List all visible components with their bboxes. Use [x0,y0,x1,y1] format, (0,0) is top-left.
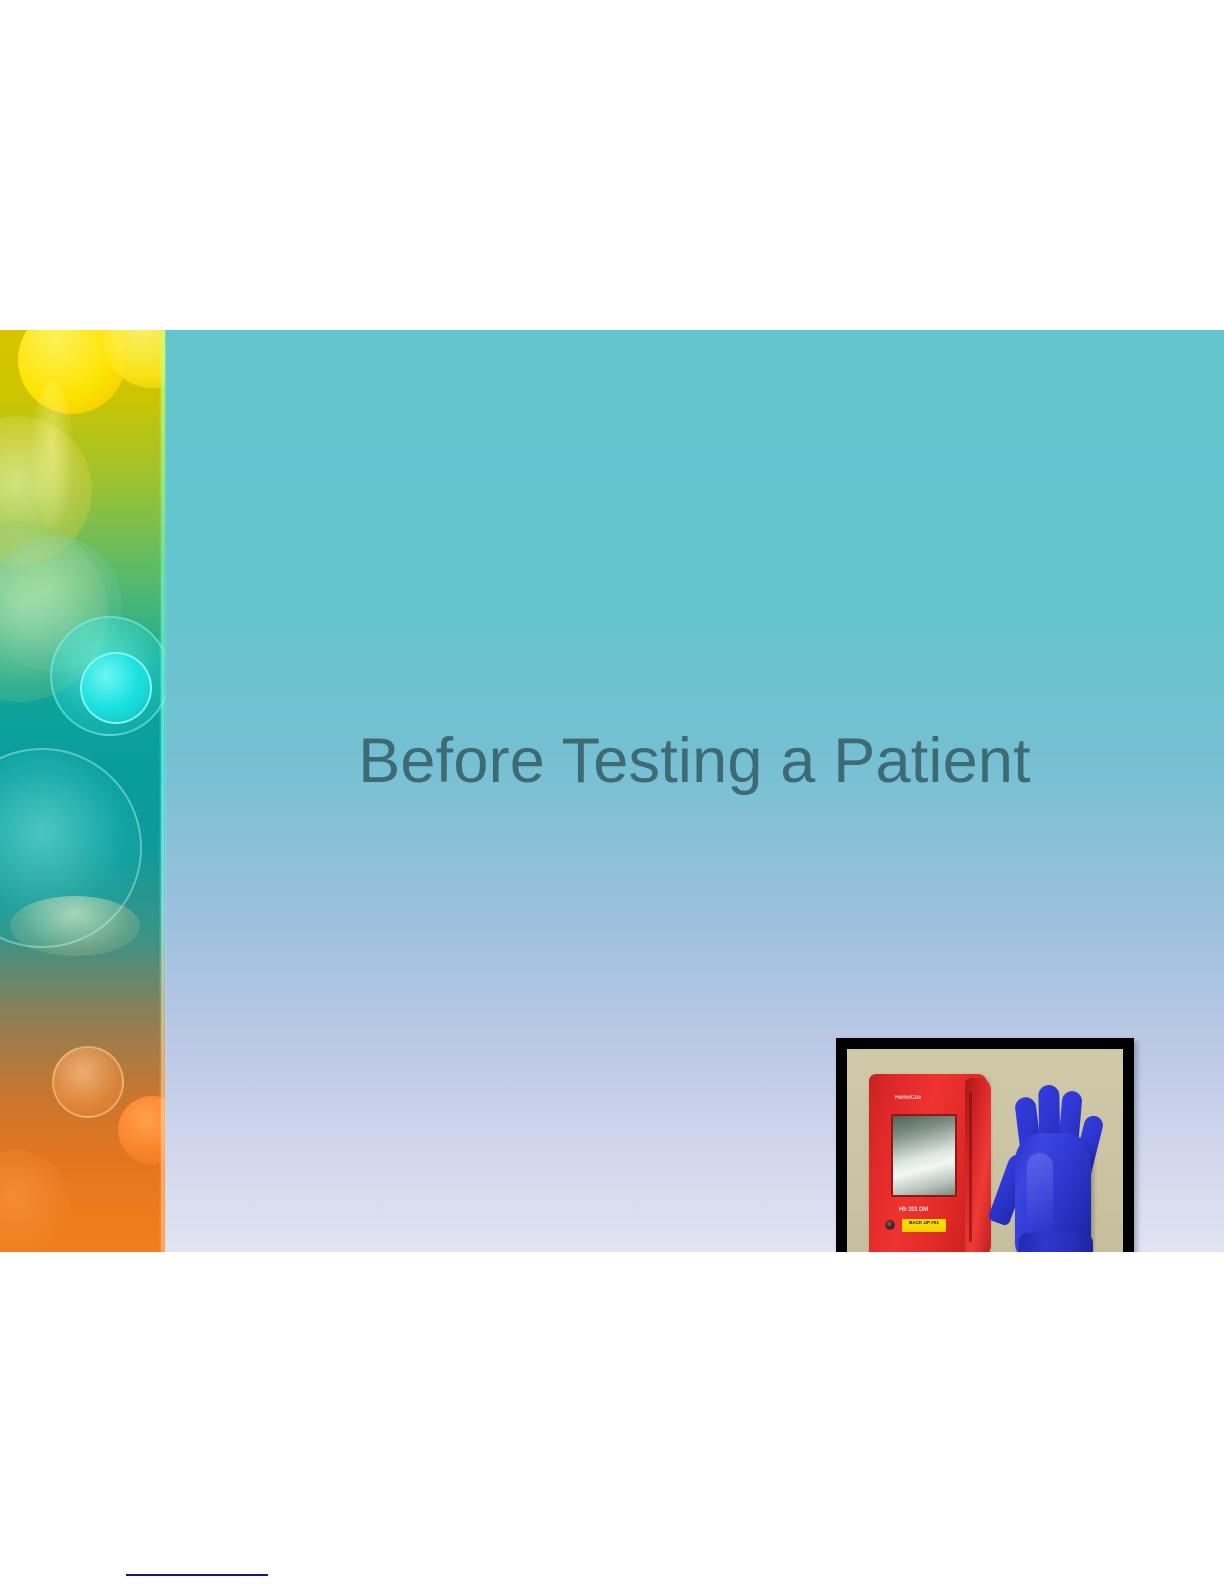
analyzer-model-label: Hb 201 DM [899,1207,928,1213]
presentation-slide: Before Testing a Patient HemoCue Hb 201 … [0,330,1224,1252]
bokeh-circle-orange-solid [118,1096,165,1164]
analyzer-display [891,1114,957,1197]
bokeh-glow-orange [0,1150,70,1252]
slide-title: Before Testing a Patient [165,730,1224,793]
footer-divider-rule [126,1574,268,1576]
bokeh-circle-cyan-bright [80,652,152,724]
bokeh-glow-warm [10,896,140,956]
glove-cuff [1019,1233,1093,1252]
bokeh-circle-green-soft [0,522,108,702]
bokeh-circle-teal-ring [50,616,165,736]
supplies-photo-frame: HemoCue Hb 201 DM BACK UP #01 [836,1038,1134,1252]
analyzer-backup-sticker: BACK UP #01 [902,1219,946,1232]
bokeh-glow-vertical [30,382,74,532]
bokeh-circle-green-inner [0,536,122,672]
glove-highlight [1027,1153,1053,1233]
nitrile-glove-icon [997,1075,1113,1252]
supplies-photo: HemoCue Hb 201 DM BACK UP #01 [847,1049,1123,1252]
document-page: Before Testing a Patient HemoCue Hb 201 … [0,0,1224,1584]
analyzer-seam [969,1092,972,1242]
decorative-bokeh-band [0,330,165,1252]
hemocue-analyzer-icon: HemoCue Hb 201 DM BACK UP #01 [869,1074,994,1252]
bokeh-circle-pale-yellow [0,416,92,566]
bokeh-circle-orange-ring [52,1046,124,1118]
analyzer-brand-label: HemoCue [895,1095,935,1102]
bokeh-circle-yellow-large [18,330,126,414]
bokeh-circle-yellow-small [104,330,165,388]
bokeh-circle-teal-orb [0,748,142,948]
analyzer-power-button [885,1220,895,1230]
